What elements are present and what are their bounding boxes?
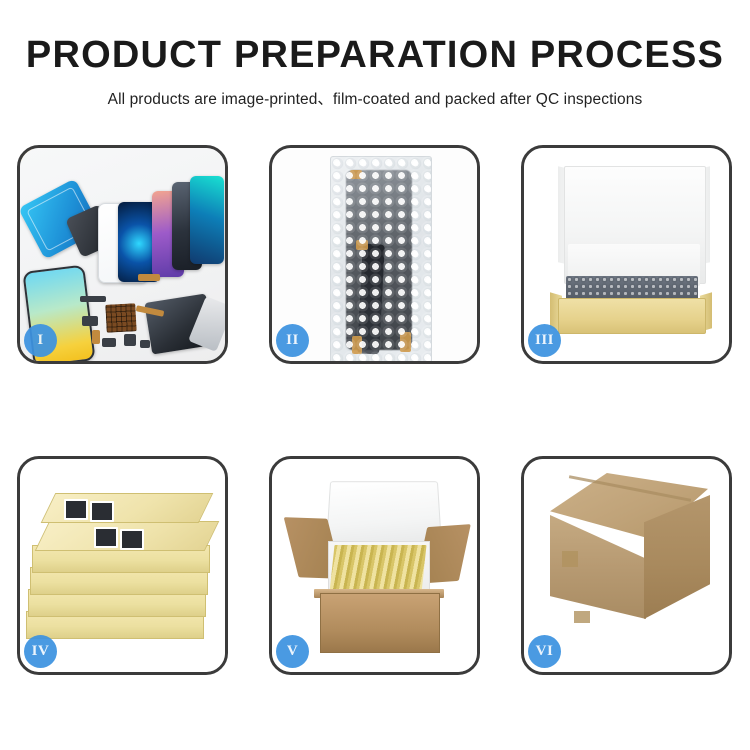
tape-piece-bottom-right bbox=[400, 332, 411, 352]
small-part-c bbox=[102, 338, 116, 347]
small-part-d bbox=[124, 334, 136, 346]
header: PRODUCT PREPARATION PROCESS All products… bbox=[0, 36, 750, 109]
chip-array-component bbox=[105, 303, 136, 333]
flex-cable-c bbox=[92, 330, 100, 344]
box-label-1b bbox=[90, 501, 114, 522]
process-step-panel-1[interactable]: I bbox=[17, 145, 228, 364]
box-label-1a bbox=[64, 499, 88, 520]
tape-piece-top bbox=[350, 170, 362, 179]
process-step-panel-4[interactable]: IV bbox=[17, 456, 228, 675]
small-part-e bbox=[140, 340, 150, 348]
small-part-b bbox=[82, 316, 98, 326]
yellow-boxes-inside bbox=[329, 545, 426, 593]
phone-lcd-teal bbox=[190, 176, 224, 264]
step-badge-3: III bbox=[528, 324, 561, 357]
step-badge-5: V bbox=[276, 635, 309, 668]
flex-cable-a bbox=[138, 274, 160, 281]
carton-body bbox=[320, 593, 440, 653]
carton-tape-lower bbox=[574, 611, 590, 623]
tape-piece-bottom-left bbox=[352, 336, 362, 354]
page-subtitle: All products are image-printed、film-coat… bbox=[0, 87, 750, 109]
process-step-grid: I II bbox=[17, 145, 733, 675]
small-part-a bbox=[80, 296, 106, 302]
product-preparation-process-page: PRODUCT PREPARATION PROCESS All products… bbox=[0, 0, 750, 750]
tape-piece-mid bbox=[356, 240, 368, 250]
process-step-panel-6[interactable]: VI bbox=[521, 456, 732, 675]
carton-tape-upper bbox=[562, 551, 578, 567]
kraft-box-body bbox=[558, 298, 706, 334]
process-step-panel-5[interactable]: V bbox=[269, 456, 480, 675]
box-label-2a bbox=[94, 527, 118, 548]
page-title: PRODUCT PREPARATION PROCESS bbox=[0, 36, 750, 76]
step-badge-1: I bbox=[24, 324, 57, 357]
step-badge-4: IV bbox=[24, 635, 57, 668]
box-label-2b bbox=[120, 529, 144, 550]
step-badge-2: II bbox=[276, 324, 309, 357]
process-step-panel-2[interactable]: II bbox=[269, 145, 480, 364]
step-badge-6: VI bbox=[528, 635, 561, 668]
process-step-panel-3[interactable]: III bbox=[521, 145, 732, 364]
